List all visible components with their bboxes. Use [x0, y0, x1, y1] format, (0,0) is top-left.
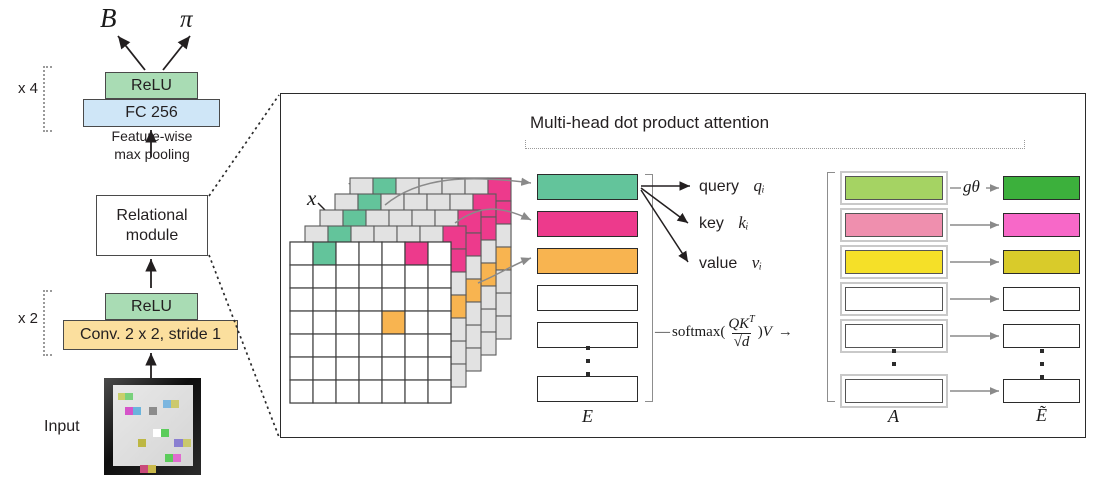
a-to-etilde-arrows	[0, 0, 1115, 485]
etilde-vector-4	[1003, 287, 1080, 311]
etilde-vector-last	[1003, 379, 1080, 403]
etilde-column-label: Ẽ	[1036, 405, 1047, 426]
etilde-vector-5	[1003, 324, 1080, 348]
etilde-vector-2	[1003, 213, 1080, 237]
etilde-vector-1	[1003, 176, 1080, 200]
etilde-vector-ellipsis	[1039, 349, 1044, 379]
etilde-vector-3	[1003, 250, 1080, 274]
